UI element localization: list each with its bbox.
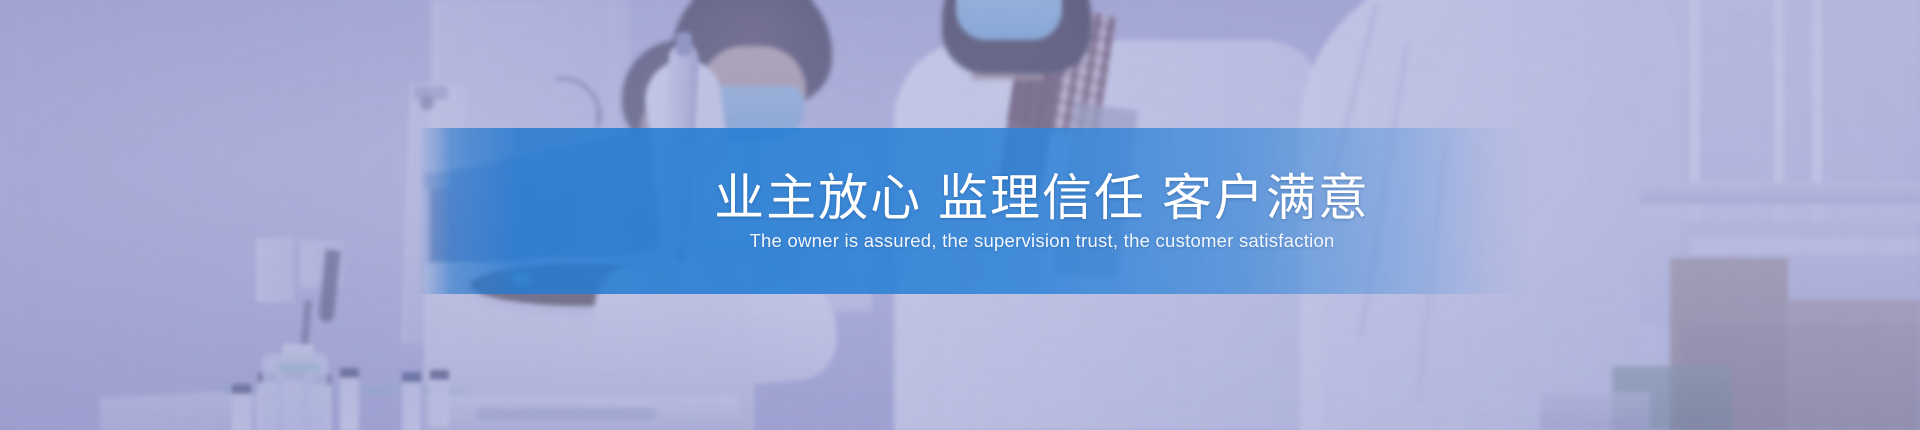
hero-banner: 业主放心 监理信任 客户满意 The owner is assured, the… bbox=[0, 0, 1920, 430]
background-photo bbox=[0, 0, 1920, 430]
color-tint-vignette bbox=[0, 0, 1920, 430]
